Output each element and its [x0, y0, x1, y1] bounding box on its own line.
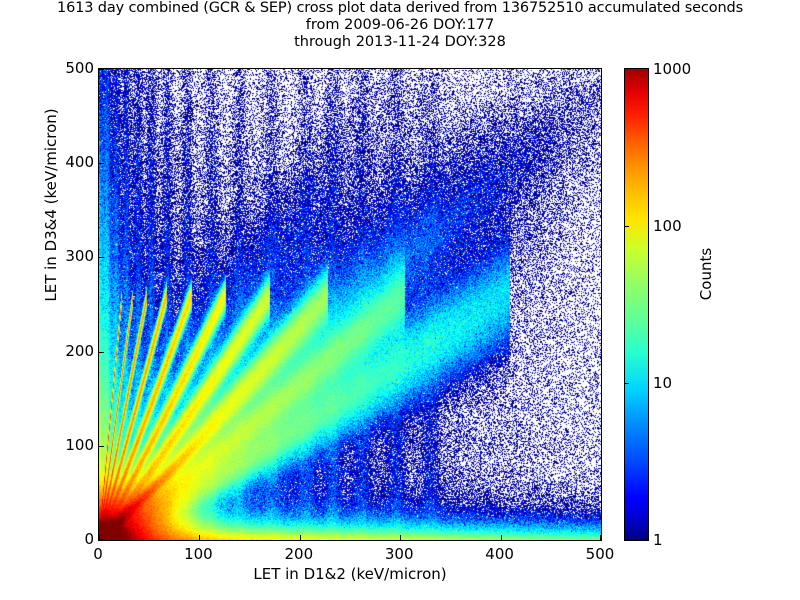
y-tick-label: 100 [65, 436, 94, 454]
colorbar [624, 68, 649, 541]
title-line-3: through 2013-11-24 DOY:328 [0, 34, 800, 51]
x-tick-label: 0 [93, 545, 103, 563]
y-tick-label: 500 [65, 59, 94, 77]
colorbar-tick-label: 100 [653, 217, 682, 235]
y-tick [99, 69, 104, 70]
y-tick-label: 0 [84, 530, 94, 548]
colorbar-tick [624, 383, 629, 384]
x-tick-label: 300 [385, 545, 414, 563]
colorbar-tick-label: 1000 [653, 60, 691, 78]
y-tick [99, 352, 104, 353]
x-tick [199, 535, 200, 540]
colorbar-label: Counts [697, 184, 715, 364]
x-axis-label: LET in D1&2 (keV/micron) [98, 565, 602, 583]
colorbar-tick-label: 1 [653, 531, 663, 549]
x-tick [400, 535, 401, 540]
figure-title: 1613 day combined (GCR & SEP) cross plot… [0, 0, 800, 51]
y-tick-label: 200 [65, 342, 94, 360]
title-line-1: 1613 day combined (GCR & SEP) cross plot… [0, 0, 800, 17]
title-line-2: from 2009-06-26 DOY:177 [0, 17, 800, 34]
x-tick [600, 535, 601, 540]
x-tick-label: 500 [586, 545, 615, 563]
y-tick [99, 446, 104, 447]
plot-axes [98, 68, 602, 541]
colorbar-tick-label: 10 [653, 374, 672, 392]
y-tick-label: 400 [65, 153, 94, 171]
x-tick [501, 535, 502, 540]
y-tick [99, 257, 104, 258]
scatter-density-figure: 1613 day combined (GCR & SEP) cross plot… [0, 0, 800, 600]
y-tick-label: 300 [65, 247, 94, 265]
y-tick [99, 163, 104, 164]
x-tick [300, 535, 301, 540]
y-tick [99, 539, 104, 540]
density-plot-canvas [99, 69, 601, 540]
x-tick-label: 200 [284, 545, 313, 563]
y-axis-label: LET in D3&4 (keV/micron) [42, 45, 60, 365]
x-tick-label: 100 [184, 545, 213, 563]
colorbar-tick [624, 226, 629, 227]
x-tick-label: 400 [485, 545, 514, 563]
